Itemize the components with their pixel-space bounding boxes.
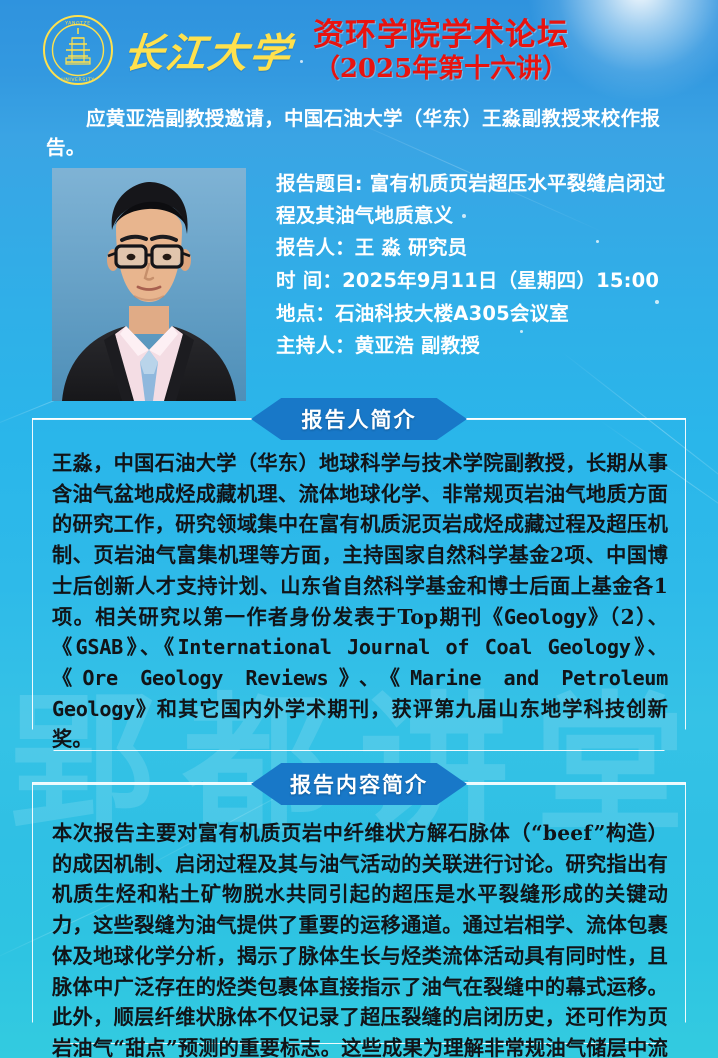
- poster-root: 郢都讲堂 YANGTZE UNIVERSITY 长江大学 资环学院学术论坛 （2…: [0, 0, 718, 1058]
- event-title-line2: 程及其油气地质意义: [276, 202, 704, 230]
- forum-title-block: 资环学院学术论坛 （2025年第十六讲）: [276, 18, 606, 84]
- abstract-text: 本次报告主要对富有机质页岩中纤维状方解石脉体（“beef”构造）的成因机制、启闭…: [52, 818, 668, 1058]
- bio-mid2: 、: [140, 635, 164, 659]
- svg-text:UNIVERSITY: UNIVERSITY: [61, 77, 94, 83]
- svg-text:YANGTZE: YANGTZE: [64, 21, 90, 27]
- event-host: 主持人：黄亚浩 副教授: [276, 332, 704, 360]
- event-location: 地点：石油科技大楼A305会议室: [276, 300, 704, 328]
- invitation-text: 应黄亚浩副教授邀请，中国石油大学（华东）王淼副教授来校作报告。: [46, 104, 694, 163]
- forum-subtitle: （2025年第十六讲）: [276, 55, 606, 84]
- section-banner-abstract: 报告内容简介: [251, 763, 467, 805]
- bio-journal-ogr: 《Ore Geology Reviews》: [52, 666, 359, 690]
- bio-journal-gsab: 《GSAB》: [52, 635, 140, 659]
- event-title-line1: 报告题目: 富有机质页岩超压水平裂缝启闭过: [276, 170, 704, 198]
- banner-rule-right-abs: [466, 783, 686, 785]
- event-speaker: 报告人：王 淼 研究员: [276, 234, 704, 262]
- banner-rule-left: [32, 418, 252, 420]
- speaker-photo: [52, 168, 246, 401]
- university-name: 长江大学: [121, 21, 295, 79]
- event-time: 时 间：2025年9月11日（星期四）15:00: [276, 267, 704, 295]
- poster-header: YANGTZE UNIVERSITY 长江大学 资环学院学术论坛 （2025年第…: [0, 0, 718, 100]
- bio-part1: 王淼，中国石油大学（华东）地球科学与技术学院副教授，长期从事含油气盆地成烃成藏机…: [52, 451, 668, 629]
- section-banner-bio: 报告人简介: [251, 398, 467, 440]
- bio-journal-ijcg: 《International Journal of Coal Geology》: [164, 635, 648, 659]
- bio-text: 王淼，中国石油大学（华东）地球科学与技术学院副教授，长期从事含油气盆地成烃成藏机…: [52, 448, 668, 755]
- bio-mid1: （2）、: [609, 605, 668, 629]
- bio-mid3: 、: [648, 635, 668, 659]
- event-info-block: 报告题目: 富有机质页岩超压水平裂缝启闭过 程及其油气地质意义 报告人：王 淼 …: [276, 170, 704, 365]
- university-seal-icon: YANGTZE UNIVERSITY: [42, 14, 114, 86]
- banner-rule-right: [466, 418, 686, 420]
- bio-mid4: 、: [359, 666, 390, 690]
- banner-rule-left-abs: [32, 783, 252, 785]
- university-logo: YANGTZE UNIVERSITY 长江大学: [42, 14, 292, 86]
- forum-title: 资环学院学术论坛: [276, 18, 606, 52]
- bio-journal-geology: 《Geology》: [483, 605, 609, 629]
